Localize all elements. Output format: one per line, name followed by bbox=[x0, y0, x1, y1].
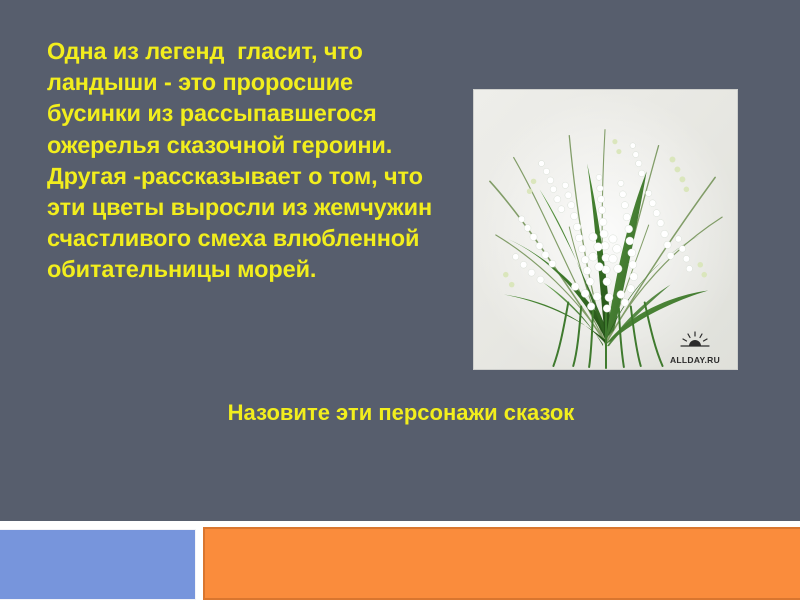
prompt-text: Назовите эти персонажи сказок bbox=[196, 398, 606, 427]
decoration-bar-blue bbox=[0, 529, 196, 600]
slide: Одна из легенд гласит, что ландыши - это… bbox=[0, 0, 800, 600]
lily-of-the-valley-painting: ALLDAY.RU bbox=[473, 89, 738, 370]
painting-artwork bbox=[474, 90, 737, 369]
decoration-bar-orange bbox=[203, 527, 800, 600]
body-text: Одна из легенд гласит, что ландыши - это… bbox=[47, 36, 447, 286]
